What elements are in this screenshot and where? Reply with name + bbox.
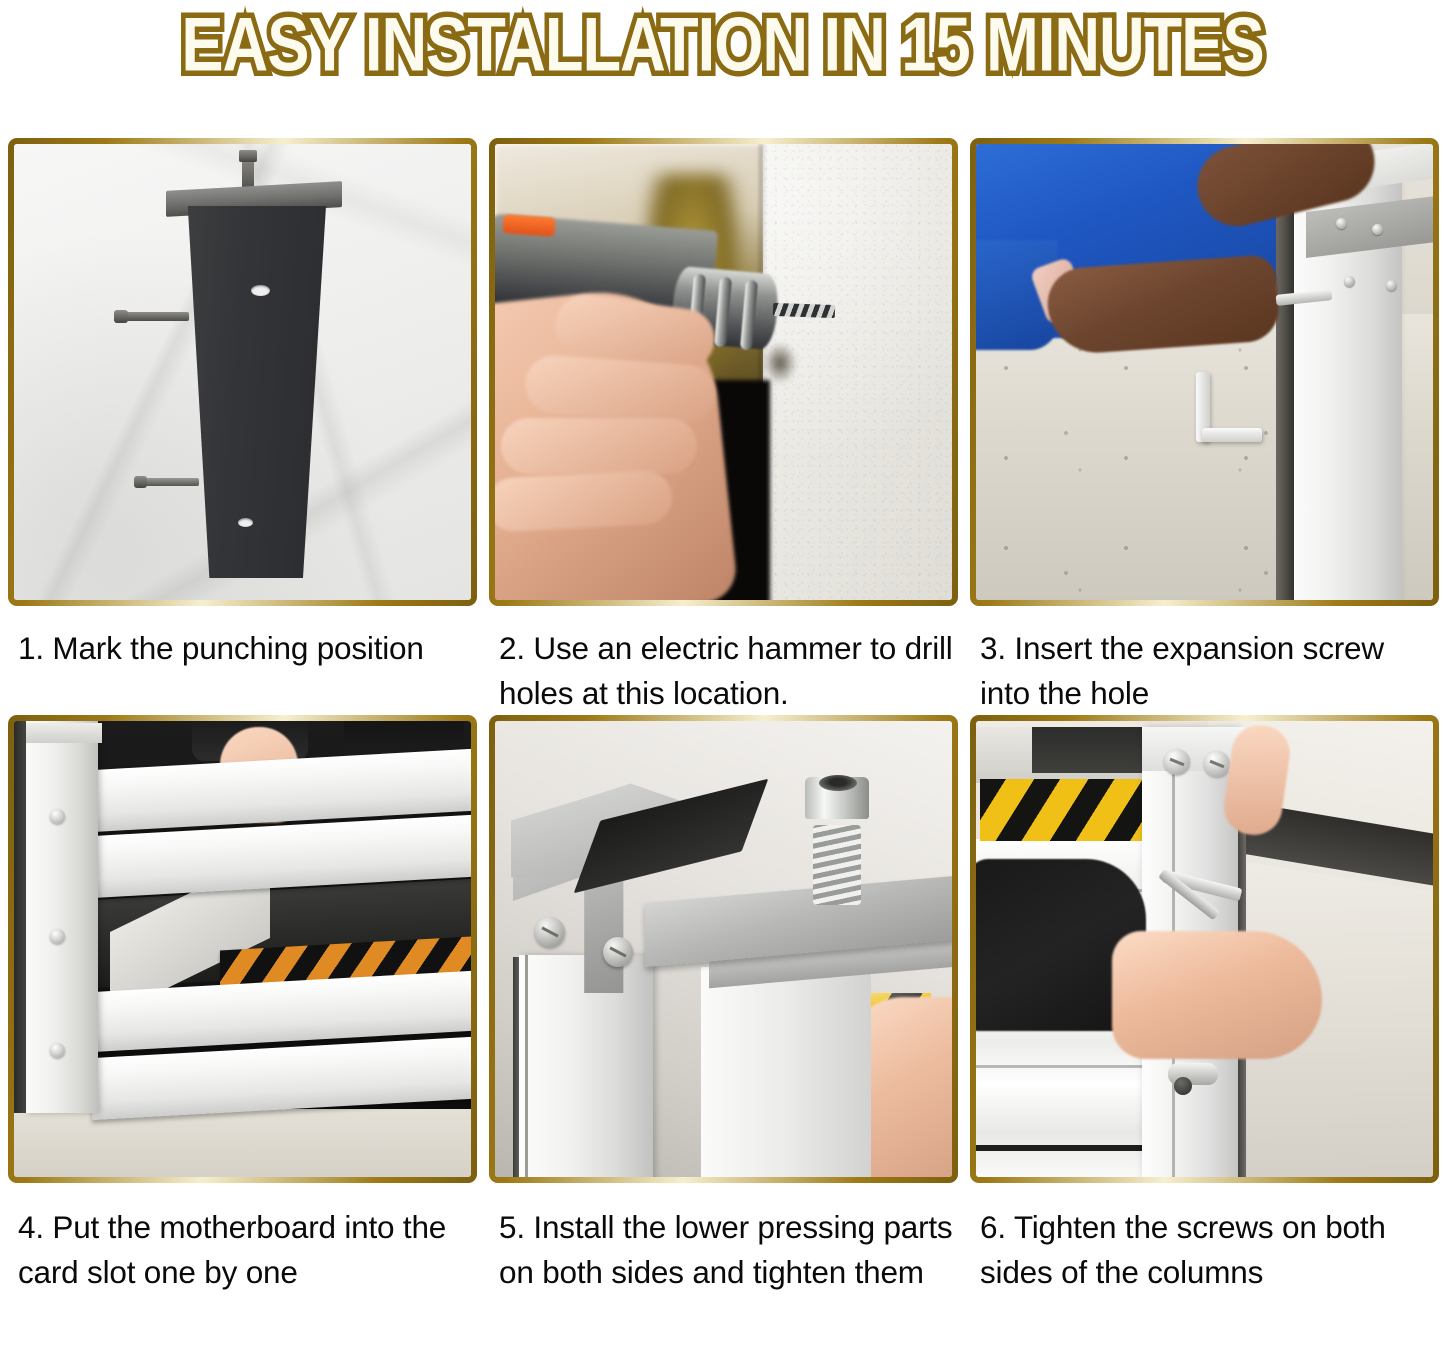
step-photo-3	[976, 144, 1433, 600]
drill-dust	[763, 342, 797, 384]
hand-tightening-screw	[1112, 931, 1322, 1059]
floor-strip	[14, 1109, 471, 1177]
steps-grid: 1. Mark the punching position	[8, 138, 1438, 1295]
finger	[501, 418, 697, 474]
step-caption-2: 2. Use an electric hammer to drill holes…	[489, 606, 958, 715]
finger	[495, 469, 673, 533]
step-photo-2	[495, 144, 952, 600]
step-photo-frame-6	[970, 715, 1439, 1183]
drill-bit	[773, 303, 835, 318]
step-photo-frame-2	[489, 138, 958, 606]
board-seam	[976, 1065, 1148, 1068]
template-hole-lower	[238, 518, 253, 527]
step-photo-6	[976, 721, 1433, 1177]
step-photo-frame-4	[8, 715, 477, 1183]
step-card-4: 4. Put the motherboard into the card slo…	[8, 715, 477, 1294]
expansion-screw	[1386, 280, 1397, 291]
step-photo-frame-1	[8, 138, 477, 606]
step-photo-frame-5	[489, 715, 958, 1183]
step-card-6: 6. Tighten the screws on both sides of t…	[970, 715, 1439, 1294]
column-shadow-edge	[1276, 164, 1294, 600]
installation-guide-sheet: EASY INSTALLATION IN 15 MINUTES	[0, 0, 1445, 1352]
page-title-bar: EASY INSTALLATION IN 15 MINUTES	[0, 0, 1445, 92]
page-title: EASY INSTALLATION IN 15 MINUTES	[181, 8, 1263, 84]
template-side-bolt-lower-head	[134, 476, 147, 488]
top-panel-shadow	[1032, 727, 1142, 773]
step-card-1: 1. Mark the punching position	[8, 138, 477, 715]
step-photo-1	[14, 144, 471, 600]
allen-key-arm	[1202, 428, 1262, 442]
step-card-3: 3. Insert the expansion screw into the h…	[970, 138, 1439, 715]
board-seam	[976, 1145, 1148, 1151]
step-caption-4: 4. Put the motherboard into the card slo…	[8, 1183, 477, 1294]
step-photo-5	[495, 721, 952, 1177]
template-hole-upper	[251, 285, 270, 296]
worker-hand-arm	[1045, 254, 1280, 356]
template-side-bolt-upper-head	[114, 310, 128, 323]
step-caption-1: 1. Mark the punching position	[8, 606, 477, 671]
post-top-cap	[26, 723, 102, 743]
step-card-5: 5. Install the lower pressing parts on b…	[489, 715, 958, 1294]
hex-bolt-thread	[813, 825, 861, 905]
template-top-bolt-head	[239, 150, 257, 162]
column-lower-body	[701, 967, 871, 1177]
step-caption-5: 5. Install the lower pressing parts on b…	[489, 1183, 958, 1294]
expansion-screw	[1336, 218, 1347, 229]
step-caption-3: 3. Insert the expansion screw into the h…	[970, 606, 1439, 715]
hazard-stripe-panel	[980, 779, 1146, 841]
column-groove-line	[525, 955, 528, 1177]
drill-trigger	[502, 214, 555, 237]
expansion-screw	[1372, 224, 1383, 235]
step-caption-6: 6. Tighten the screws on both sides of t…	[970, 1183, 1439, 1294]
step-card-2: 2. Use an electric hammer to drill holes…	[489, 138, 958, 715]
step-photo-4	[14, 721, 471, 1177]
step-photo-frame-3	[970, 138, 1439, 606]
expansion-screw	[1344, 276, 1355, 287]
